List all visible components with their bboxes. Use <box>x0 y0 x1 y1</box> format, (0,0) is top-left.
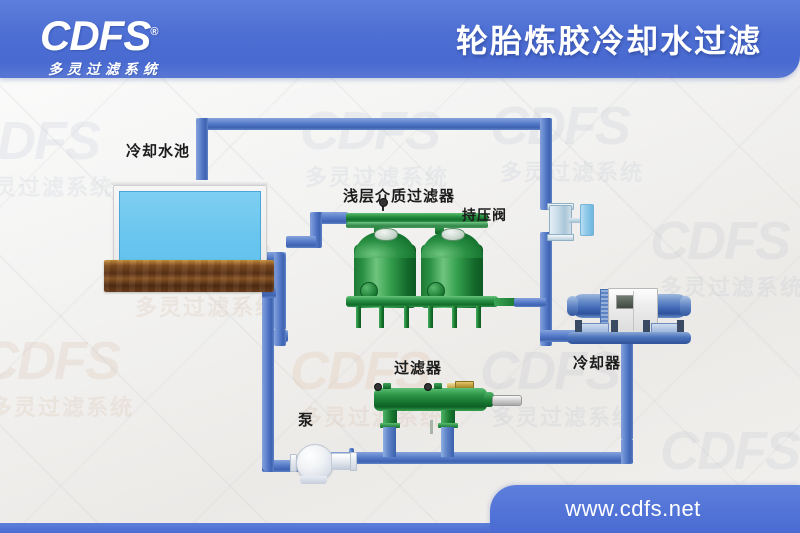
page-title: 轮胎炼胶冷却水过滤 <box>456 16 762 62</box>
pipe-left-down-upper <box>274 270 286 330</box>
label-cooler: 冷却器 <box>573 352 621 373</box>
pipe-right-riser-upper <box>540 118 552 210</box>
logo-wordmark: CDFS® <box>40 10 250 58</box>
pipe-top-main <box>196 118 552 130</box>
filter-top-valve-1 <box>383 383 391 389</box>
pipe-elbow-bottom-left <box>262 450 274 472</box>
label-cooling-pool: 冷却水池 <box>126 140 190 161</box>
tank-manway <box>441 228 465 241</box>
watermark-sub: 多灵过滤系统 <box>500 155 644 187</box>
pipe-left-main-down <box>262 292 274 472</box>
watermark-brand: CDFS <box>0 330 119 392</box>
watermark-sub: 多灵过滤系统 <box>0 170 114 202</box>
page-header: CDFS® 多灵过滤系统 轮胎炼胶冷却水过滤 <box>0 0 800 78</box>
cooler-unit <box>567 286 691 344</box>
pump-baseplate <box>300 476 327 484</box>
pressure-gauge-icon <box>379 198 388 207</box>
valve-handle[interactable] <box>580 204 594 236</box>
tank-leg <box>379 306 384 328</box>
filter-drain-pipe <box>430 420 433 434</box>
tank-manway <box>374 228 398 241</box>
pipe-tank-feed <box>286 236 316 248</box>
cooler-base-rail <box>567 332 691 344</box>
valve-flange-bottom <box>547 234 574 241</box>
watermark-sub: 多灵过滤系统 <box>135 290 279 322</box>
pipe-tank-discharge <box>514 298 546 307</box>
pipe-left-jog-elbow <box>274 330 286 346</box>
filter-neck-right <box>441 410 455 424</box>
filter-vessel <box>374 388 487 411</box>
filter-outlet-nozzle <box>492 395 522 406</box>
watermark-sub: 多灵过滤系统 <box>0 390 134 422</box>
pipe-bottom-main <box>330 452 633 464</box>
filter-downcomer-left <box>383 427 396 457</box>
website-url[interactable]: www.cdfs.net <box>490 496 776 522</box>
label-shallow-media-filter: 浅层介质过滤器 <box>343 185 455 206</box>
cooler-endcap-left <box>567 296 578 316</box>
watermark-brand: CDFS <box>300 100 439 162</box>
filter-gauge-2-icon <box>424 383 432 391</box>
filter-top-valve-2 <box>434 383 442 389</box>
cooler-endcap-right <box>680 296 691 316</box>
watermark-brand: CDFS <box>0 110 99 172</box>
registered-icon: ® <box>150 26 158 38</box>
watermark-brand: CDFS <box>660 420 799 482</box>
filter-gauge-1-icon <box>374 383 382 391</box>
page-footer: www.cdfs.net <box>490 485 800 533</box>
logo-text: CDFS <box>40 12 150 59</box>
filter-neck-left <box>383 410 397 424</box>
diagram-page: CDFS 多灵过滤系统 CDFS 多灵过滤系统 CDFS 多灵过滤系统 CDFS… <box>0 0 800 533</box>
tank-leg <box>356 306 361 328</box>
label-pump: 泵 <box>298 409 314 430</box>
pipe-far-right-down <box>621 330 633 440</box>
tank-leg <box>476 306 481 328</box>
watermark-brand: CDFS <box>650 210 789 272</box>
tank-leg <box>404 306 409 328</box>
pipe-pool-inlet-riser <box>196 128 208 186</box>
pump-discharge-flange <box>350 452 357 471</box>
pool-foundation <box>104 260 274 292</box>
logo-subtitle: 多灵过滤系统 <box>40 59 250 78</box>
tank-leg <box>452 306 457 328</box>
label-pressure-valve: 持压阀 <box>462 205 507 225</box>
filter-downcomer-right <box>441 427 454 457</box>
tank-leg <box>428 306 433 328</box>
pipe-elbow-bottom-right <box>621 440 633 464</box>
brand-logo[interactable]: CDFS® 多灵过滤系统 <box>40 10 250 70</box>
pipe-right-riser-lower <box>540 232 552 292</box>
cooler-display-screen <box>616 295 634 309</box>
label-filter: 过滤器 <box>394 357 442 378</box>
